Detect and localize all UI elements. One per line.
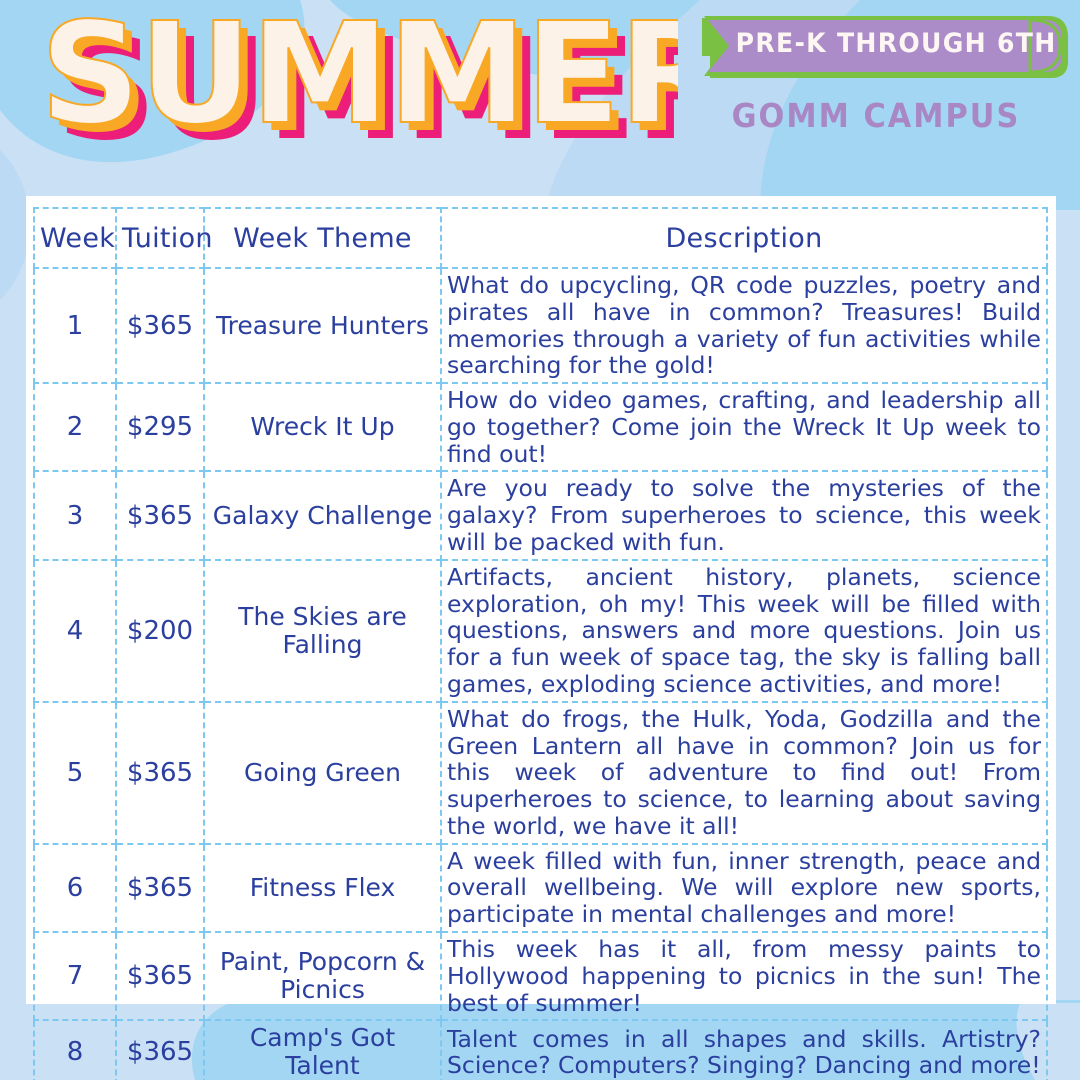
cell-week: 5 [34,702,116,844]
table-row: 8 $365 Camp's Got Talent Talent comes in… [34,1020,1047,1080]
cell-theme: Going Green [204,702,441,844]
table-header-row: Week Tuition Week Theme Description [34,208,1047,268]
cell-tuition: $365 [116,1020,204,1080]
cell-theme: Treasure Hunters [204,268,441,383]
cell-week: 3 [34,471,116,559]
table-row: 3 $365 Galaxy Challenge Are you ready to… [34,471,1047,559]
cell-description: Talent comes in all shapes and skills. A… [441,1020,1047,1080]
schedule-card: Week Tuition Week Theme Description 1 $3… [26,196,1056,1004]
cell-week: 4 [34,560,116,702]
cell-week: 2 [34,383,116,471]
cell-theme: Wreck It Up [204,383,441,471]
cell-theme: Camp's Got Talent [204,1020,441,1080]
table-row: 6 $365 Fitness Flex A week filled with f… [34,844,1047,932]
cell-tuition: $365 [116,268,204,383]
page-title: SUMMER SUMMER SUMMER [18,2,678,182]
cell-week: 6 [34,844,116,932]
column-header-tuition: Tuition [116,208,204,268]
grade-banner-label: PRE-K THROUGH 6TH [713,12,1055,74]
cell-tuition: $365 [116,932,204,1020]
summer-title-text: SUMMER [40,2,678,156]
column-header-description: Description [441,208,1047,268]
cell-description: Are you ready to solve the mysteries of … [441,471,1047,559]
cell-theme: Fitness Flex [204,844,441,932]
cell-tuition: $295 [116,383,204,471]
cell-theme: Paint, Popcorn & Picnics [204,932,441,1020]
summer-title-art: SUMMER SUMMER SUMMER [18,2,678,182]
cell-theme: The Skies are Falling [204,560,441,702]
cell-theme: Galaxy Challenge [204,471,441,559]
cell-description: Artifacts, ancient history, planets, sci… [441,560,1047,702]
table-row: 1 $365 Treasure Hunters What do upcyclin… [34,268,1047,383]
campus-label: GOMM CAMPUS [714,96,1038,135]
table-row: 7 $365 Paint, Popcorn & Picnics This wee… [34,932,1047,1020]
header: SUMMER SUMMER SUMMER PRE-K THROUGH 6TH G… [0,0,1080,196]
table-row: 5 $365 Going Green What do frogs, the Hu… [34,702,1047,844]
cell-description: How do video games, crafting, and leader… [441,383,1047,471]
cell-description: What do frogs, the Hulk, Yoda, Godzilla … [441,702,1047,844]
cell-week: 7 [34,932,116,1020]
cell-week: 1 [34,268,116,383]
column-header-week: Week [34,208,116,268]
cell-tuition: $365 [116,471,204,559]
schedule-table: Week Tuition Week Theme Description 1 $3… [33,207,1048,1080]
cell-week: 8 [34,1020,116,1080]
table-row: 4 $200 The Skies are Falling Artifacts, … [34,560,1047,702]
column-header-theme: Week Theme [204,208,441,268]
cell-tuition: $365 [116,844,204,932]
cell-tuition: $200 [116,560,204,702]
cell-description: A week filled with fun, inner strength, … [441,844,1047,932]
cell-tuition: $365 [116,702,204,844]
cell-description: What do upcycling, QR code puzzles, poet… [441,268,1047,383]
table-row: 2 $295 Wreck It Up How do video games, c… [34,383,1047,471]
cell-description: This week has it all, from messy paints … [441,932,1047,1020]
grade-banner: PRE-K THROUGH 6TH [700,12,1068,80]
